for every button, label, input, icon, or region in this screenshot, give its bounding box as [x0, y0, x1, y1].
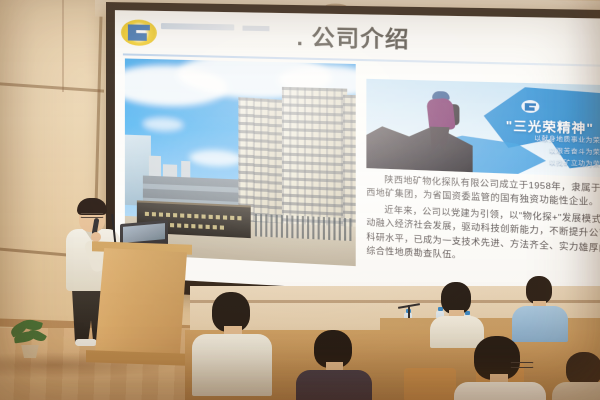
glasses-icon — [80, 213, 104, 218]
company-logo-icon — [121, 19, 157, 46]
spirit-line-2: 以艰苦奋斗为荣 — [549, 145, 600, 156]
audience-member — [516, 276, 568, 340]
audience-member — [296, 330, 370, 400]
gate-fence — [255, 214, 352, 241]
audience-member — [432, 282, 480, 342]
logo-caption-bar — [161, 23, 234, 30]
glasses-icon — [510, 362, 534, 368]
audience-member — [456, 336, 542, 400]
geologist-figure — [422, 91, 459, 153]
spirit-line-3: 以找矿立功为荣 — [549, 157, 600, 169]
conference-room-scene: . 公司介绍 — [0, 0, 600, 400]
logo-badge-icon — [521, 100, 539, 113]
presentation-slide: . 公司介绍 — [115, 10, 600, 305]
podium — [95, 248, 187, 358]
slide-header: . 公司介绍 — [115, 10, 600, 66]
paragraph-2: 近年来，公司以党建为引领，以"物化探+"发展模式主动融入经济社会发展，驱动科技创… — [366, 202, 600, 270]
logo-caption-bar-2 — [243, 26, 270, 32]
audience-member — [196, 292, 268, 400]
potted-plant — [8, 320, 50, 358]
wall-seam-vertical-2 — [62, 0, 64, 92]
audience-member — [556, 352, 600, 400]
slide-body-text: 陕西地矿物化探队有限公司成立于1958年，隶属于陕西地矿集团，为省国资委监管的国… — [366, 172, 600, 272]
geologist-fieldwork-photo: "三光荣精神" 以献身地质事业为荣 以艰苦奋斗为荣 以找矿立功为荣 — [366, 79, 600, 178]
slide-title: . 公司介绍 — [297, 19, 410, 54]
chair-back — [404, 368, 456, 400]
